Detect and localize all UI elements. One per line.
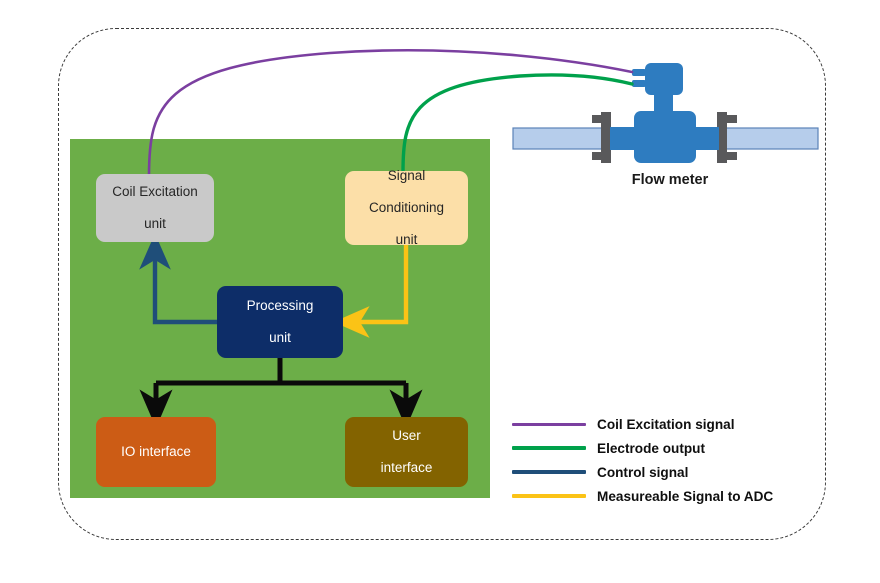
- legend-label-coil-excitation-signal: Coil Excitation signal: [586, 417, 734, 432]
- legend-label-measurable-signal-to-adc: Measureable Signal to ADC: [586, 489, 773, 504]
- legend-item-coil-excitation-signal: Coil Excitation signal: [512, 412, 842, 436]
- pipe-right: [714, 128, 818, 149]
- unit-coil-excitation-label: Coil Excitation unit: [100, 184, 210, 232]
- legend-swatch-measurable-signal-to-adc: [512, 494, 586, 498]
- wire-coil-excitation: [149, 50, 632, 176]
- unit-coil-excitation[interactable]: Coil Excitation unit: [96, 174, 214, 242]
- unit-signal-conditioning[interactable]: Signal Conditioning unit: [345, 171, 468, 245]
- cable-gland-upper: [632, 69, 646, 76]
- unit-io-interface-label: IO interface: [115, 444, 197, 460]
- diagram-canvas: Coil Excitation unit Signal Conditioning…: [0, 0, 880, 583]
- legend-item-control-signal: Control signal: [512, 460, 842, 484]
- meter-body: [634, 111, 696, 163]
- flange-bolt-right-bottom: [726, 152, 737, 160]
- legend-label-electrode-output: Electrode output: [586, 441, 705, 456]
- unit-processing-label: Processing unit: [235, 298, 326, 346]
- unit-signal-conditioning-label: Signal Conditioning unit: [357, 168, 456, 248]
- unit-user-interface[interactable]: User interface: [345, 417, 468, 487]
- meter-spool-left: [610, 127, 638, 150]
- meter-spool-right: [692, 127, 719, 150]
- legend-label-control-signal: Control signal: [586, 465, 688, 480]
- legend: Coil Excitation signal Electrode output …: [512, 412, 842, 508]
- arrow-control-signal: [155, 252, 217, 322]
- unit-processing[interactable]: Processing unit: [217, 286, 343, 358]
- legend-item-electrode-output: Electrode output: [512, 436, 842, 460]
- flow-meter-label: Flow meter: [570, 172, 770, 188]
- flange-plate-left: [601, 112, 611, 163]
- legend-item-measurable-signal-to-adc: Measureable Signal to ADC: [512, 484, 842, 508]
- transmitter-head: [645, 63, 683, 95]
- legend-swatch-electrode-output: [512, 446, 586, 450]
- legend-swatch-control-signal: [512, 470, 586, 474]
- cable-gland-lower: [632, 80, 646, 87]
- flange-bolt-right-top: [726, 115, 737, 123]
- legend-swatch-coil-excitation-signal: [512, 423, 586, 426]
- unit-io-interface[interactable]: IO interface: [96, 417, 216, 487]
- unit-user-interface-label: User interface: [369, 428, 445, 476]
- arrow-measurable-signal: [352, 245, 406, 322]
